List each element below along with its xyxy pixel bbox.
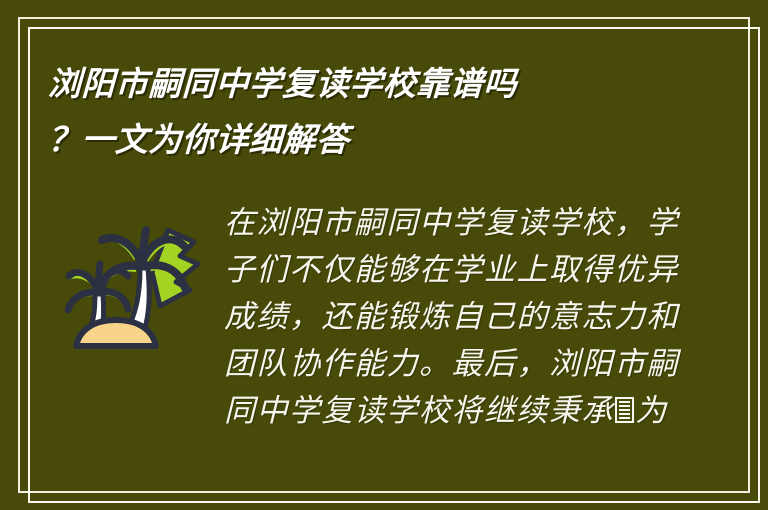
content-area: 在浏阳市嗣同中学复读学校，学 子们不仅能够在学业上取得优异 成绩，还能锻炼自己的… [48,196,720,466]
page-title-line-2: ？一文为你详细解答 [47,112,709,168]
page-title-line-1: 浏阳市嗣同中学复读学校靠谱吗 [47,56,709,112]
page-title: 浏阳市嗣同中学复读学校靠谱吗 ？一文为你详细解答 [48,56,708,168]
body-line-5: 同中学复读学校将继续秉承为 [224,388,720,435]
body-line-4: 团队协作能力。最后，浏阳市嗣 [224,341,720,388]
body-line-2: 子们不仅能够在学业上取得优异 [224,247,720,294]
body-line-5-head: 同中学复读学校将继续秉承 [224,393,614,429]
palm-trees-icon [48,202,208,362]
missing-glyph-box [615,397,634,424]
body-line-5-tail: 为 [635,393,668,429]
body-paragraph: 在浏阳市嗣同中学复读学校，学 子们不仅能够在学业上取得优异 成绩，还能锻炼自己的… [224,196,720,435]
poster-canvas: 浏阳市嗣同中学复读学校靠谱吗 ？一文为你详细解答 [0,0,768,510]
body-line-1: 在浏阳市嗣同中学复读学校，学 [224,200,720,247]
body-line-3: 成绩，还能锻炼自己的意志力和 [224,294,720,341]
